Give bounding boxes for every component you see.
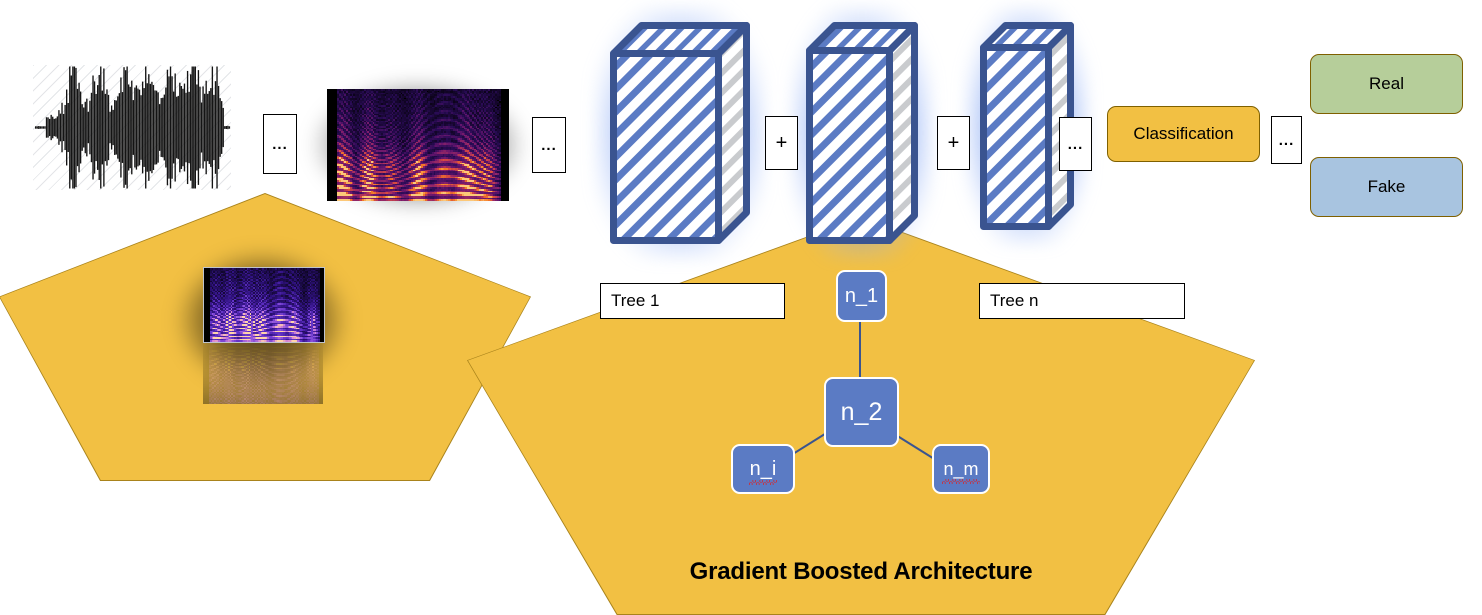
classification-label: Classification xyxy=(1133,124,1233,144)
tree-cube-1[interactable] xyxy=(610,22,750,244)
tree-node-n1[interactable]: n_1 xyxy=(836,270,887,322)
plus-2-text: + xyxy=(948,133,960,153)
edge-n1-n2 xyxy=(859,321,861,379)
spellcheck-underline-nm xyxy=(942,479,979,484)
tree-n-label: Tree n xyxy=(990,291,1039,311)
spellcheck-underline-ni xyxy=(749,480,778,485)
output-fake-box[interactable]: Fake xyxy=(1310,157,1463,217)
tree-node-ni-label: n_i xyxy=(750,459,777,479)
ellipsis-2-text: ... xyxy=(541,138,557,153)
waveform-svg xyxy=(33,65,231,190)
output-real-label: Real xyxy=(1369,74,1404,94)
tree-node-nm[interactable]: n_m xyxy=(932,444,990,494)
tree-node-n2[interactable]: n_2 xyxy=(824,377,899,447)
tree-n-label-box[interactable]: Tree n xyxy=(979,283,1185,319)
tree-node-ni[interactable]: n_i xyxy=(731,444,795,494)
feature-spectrogram xyxy=(203,267,325,343)
classification-box[interactable]: Classification xyxy=(1107,106,1260,162)
architecture-pentagon-label: Gradient Boosted Architecture xyxy=(468,557,1254,586)
ellipsis-box-2: ... xyxy=(532,117,566,173)
ellipsis-4-text: ... xyxy=(1279,133,1295,148)
architecture-label-text: Gradient Boosted Architecture xyxy=(690,558,1033,585)
tree-node-n1-label: n_1 xyxy=(845,286,878,306)
ellipsis-box-1: ... xyxy=(263,114,297,174)
tree-1-label-box[interactable]: Tree 1 xyxy=(600,283,785,319)
plus-1-text: + xyxy=(776,133,788,153)
audio-waveform xyxy=(33,65,231,190)
tree-cube-2[interactable] xyxy=(806,22,918,244)
tree-node-n2-label: n_2 xyxy=(841,400,883,425)
ellipsis-box-3: ... xyxy=(1059,117,1092,171)
ellipsis-1-text: ... xyxy=(272,137,288,152)
plus-operator-2: + xyxy=(937,116,970,170)
tree-node-nm-label: n_m xyxy=(943,460,978,478)
output-real-box[interactable]: Real xyxy=(1310,54,1463,114)
plus-operator-1: + xyxy=(765,116,798,170)
output-fake-label: Fake xyxy=(1368,177,1406,197)
ellipsis-3-text: ... xyxy=(1068,137,1084,152)
ellipsis-box-4: ... xyxy=(1271,116,1302,164)
mel-spectrogram xyxy=(327,89,509,201)
tree-1-label: Tree 1 xyxy=(611,291,660,311)
